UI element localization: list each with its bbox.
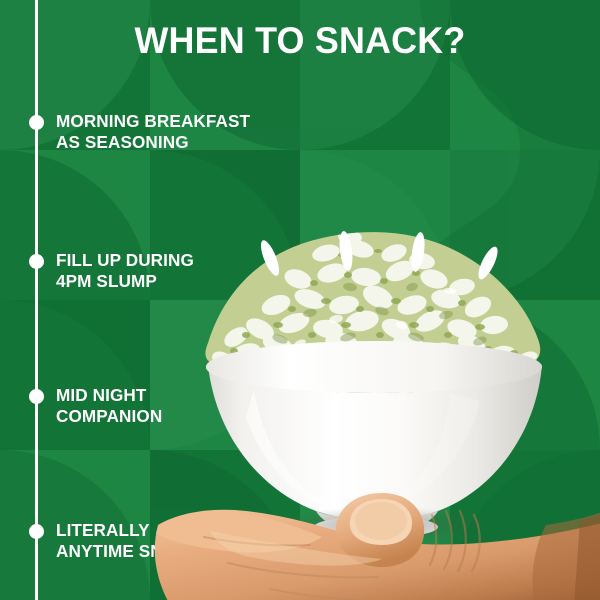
snack-poster: WHEN TO SNACK? MORNING BREAKFAST AS SEAS… <box>0 0 600 600</box>
timeline-dot-2 <box>29 254 44 269</box>
background-pattern <box>0 0 600 600</box>
page-title: WHEN TO SNACK? <box>9 22 591 61</box>
timeline-item-mid-night: MID NIGHT COMPANION <box>56 385 162 427</box>
timeline-dot-1 <box>29 115 44 130</box>
timeline-item-morning-breakfast: MORNING BREAKFAST AS SEASONING <box>56 111 250 153</box>
timeline-item-4pm-slump: FILL UP DURING 4PM SLUMP <box>56 250 194 292</box>
timeline-dot-3 <box>29 389 44 404</box>
timeline-rail <box>35 0 38 600</box>
timeline-item-anytime-snack: LITERALLY ANYTIME SNACK! <box>56 520 206 562</box>
timeline-dot-4 <box>29 524 44 539</box>
